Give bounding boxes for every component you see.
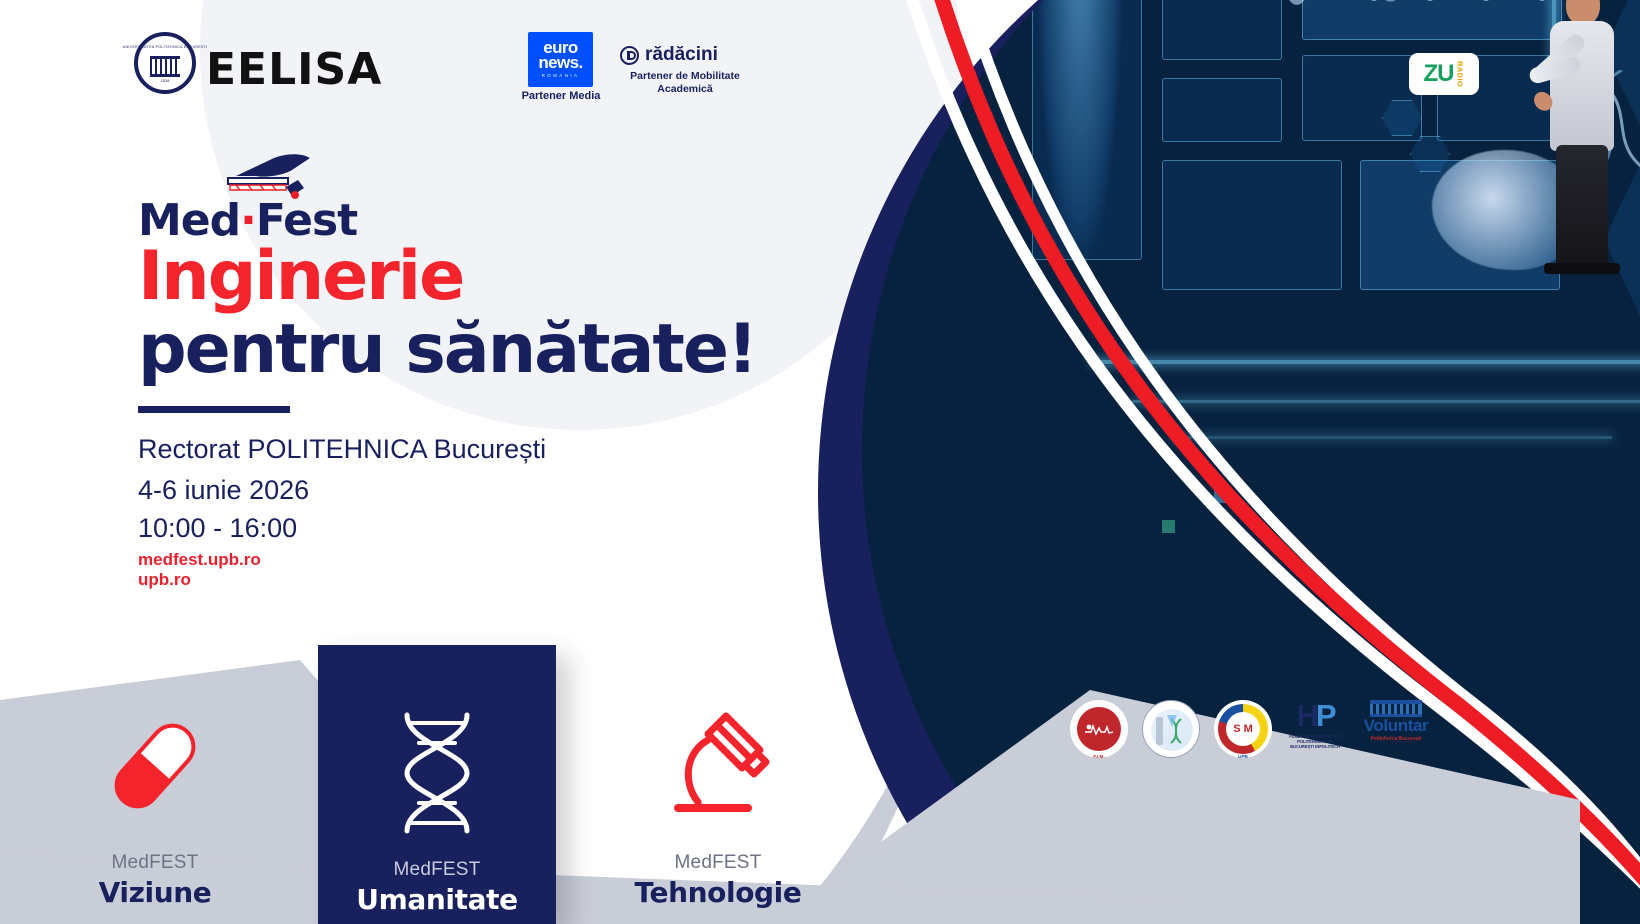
inpolitech-caption: FUNDAȚIA UNIVERSITĂȚII POLITEHNICA DIN B… [1286, 734, 1344, 749]
headline-navy: pentru sănătate! [138, 316, 756, 384]
category-card-tehnologie[interactable]: MedFEST Tehnologie [598, 685, 838, 917]
radacini-wordmark: rădăcini [645, 44, 718, 66]
category-name: Viziune [99, 876, 212, 909]
radacini-logo: rădăcini [620, 44, 718, 66]
radacini-mark-icon [620, 46, 639, 65]
divider-rule [138, 406, 290, 413]
mobility-caption-line1: Partener de Mobilitate [600, 70, 770, 83]
microscope-icon [662, 706, 774, 826]
sim-sub-label: UPB [1214, 754, 1272, 759]
category-prefix: MedFEST [394, 859, 481, 881]
zu-wordmark: ZU [1424, 60, 1454, 88]
fiir-logo [1142, 700, 1200, 758]
euronews-logo: euro news. ROMANIA [528, 32, 593, 87]
inpolitech-mark: HP [1286, 700, 1344, 731]
dna-helix-icon [385, 713, 489, 833]
category-cards: MedFEST Viziune MedFEST Umanitate [0, 645, 900, 924]
venue-text: Rectorat POLITEHNICA București [138, 434, 546, 465]
category-prefix: MedFEST [112, 852, 199, 874]
mobility-caption-line2: Academică [600, 83, 770, 96]
euronews-country: ROMANIA [542, 74, 580, 78]
mobility-partner-caption: Partener de Mobilitate Academică [600, 70, 770, 96]
primary-url-link[interactable]: medfest.upb.ro [138, 550, 261, 570]
doctor-figure [1522, 0, 1640, 275]
category-name: Umanitate [356, 883, 517, 916]
pill-capsule-icon [100, 706, 210, 826]
dates-text: 4-6 iunie 2026 [138, 475, 309, 506]
euronews-line2: news. [538, 56, 582, 71]
category-card-umanitate[interactable]: MedFEST Umanitate [318, 645, 556, 924]
inpolitech-logo: HP FUNDAȚIA UNIVERSITĂȚII POLITEHNICA DI… [1286, 700, 1344, 749]
voluntar-logo: Voluntar Politehnica București [1358, 700, 1434, 742]
voluntar-building-icon [1370, 700, 1422, 717]
footer-partner-logos: F.I.M. S M [1070, 700, 1434, 758]
hours-text: 10:00 - 16:00 [138, 513, 297, 544]
upb-seal-ring-text: UNIVERSITATEA POLITEHNICA BUCURESTI [123, 45, 208, 49]
human-body-hologram [1037, 0, 1123, 265]
upb-seal-icon: UNIVERSITATEA POLITEHNICA BUCURESTI 1818 [134, 32, 196, 94]
eelisa-logo: EELISA [206, 44, 382, 95]
upb-seal-year: 1818 [161, 78, 170, 83]
voluntar-wordmark: Voluntar [1358, 717, 1434, 736]
zu-radio-suffix: RADIO [1456, 61, 1465, 87]
sim-logo: S M UPB [1214, 700, 1272, 758]
category-name: Tehnologie [635, 876, 802, 909]
secondary-url-link[interactable]: upb.ro [138, 570, 191, 590]
poster-canvas: UNIVERSITATEA POLITEHNICA BUCURESTI 1818… [0, 0, 1640, 924]
fim-short-label: F.I.M. [1070, 754, 1128, 759]
fim-logo: F.I.M. [1070, 700, 1128, 758]
headline-red: Inginerie [138, 243, 463, 311]
voluntar-caption: Politehnica București [1358, 736, 1434, 742]
zu-radio-logo: ZU RADIO [1409, 53, 1479, 95]
sim-letters: S M [1233, 723, 1253, 735]
category-prefix: MedFEST [675, 852, 762, 874]
category-card-viziune[interactable]: MedFEST Viziune [35, 685, 275, 917]
